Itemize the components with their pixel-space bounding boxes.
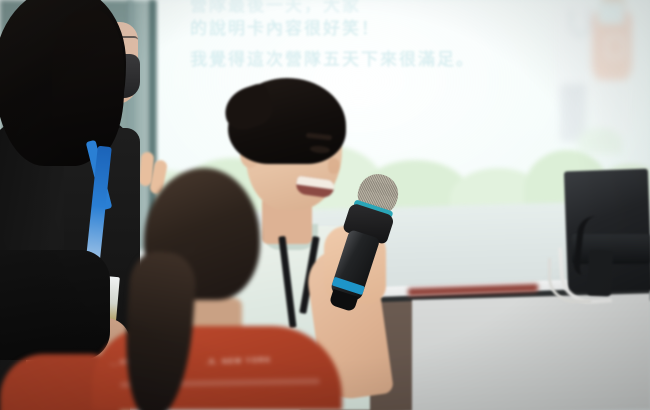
photograph: 營隊最後一天，大家 的說明卡內容很好笑！ 我覺得這次營隊五天下來很滿足。	[0, 0, 650, 410]
cartoon-characters-illustration	[548, 0, 650, 150]
podium-side-panel	[412, 293, 650, 410]
staff-hair-front	[52, 10, 124, 160]
girl-with-ponytail: ...VERSITY .U .S. NEW YORK	[92, 168, 342, 410]
slide-text-line-1: 的說明卡內容很好笑！	[190, 14, 380, 39]
slide-text-line-2: 我覺得這次營隊五天下來很滿足。	[190, 45, 475, 70]
